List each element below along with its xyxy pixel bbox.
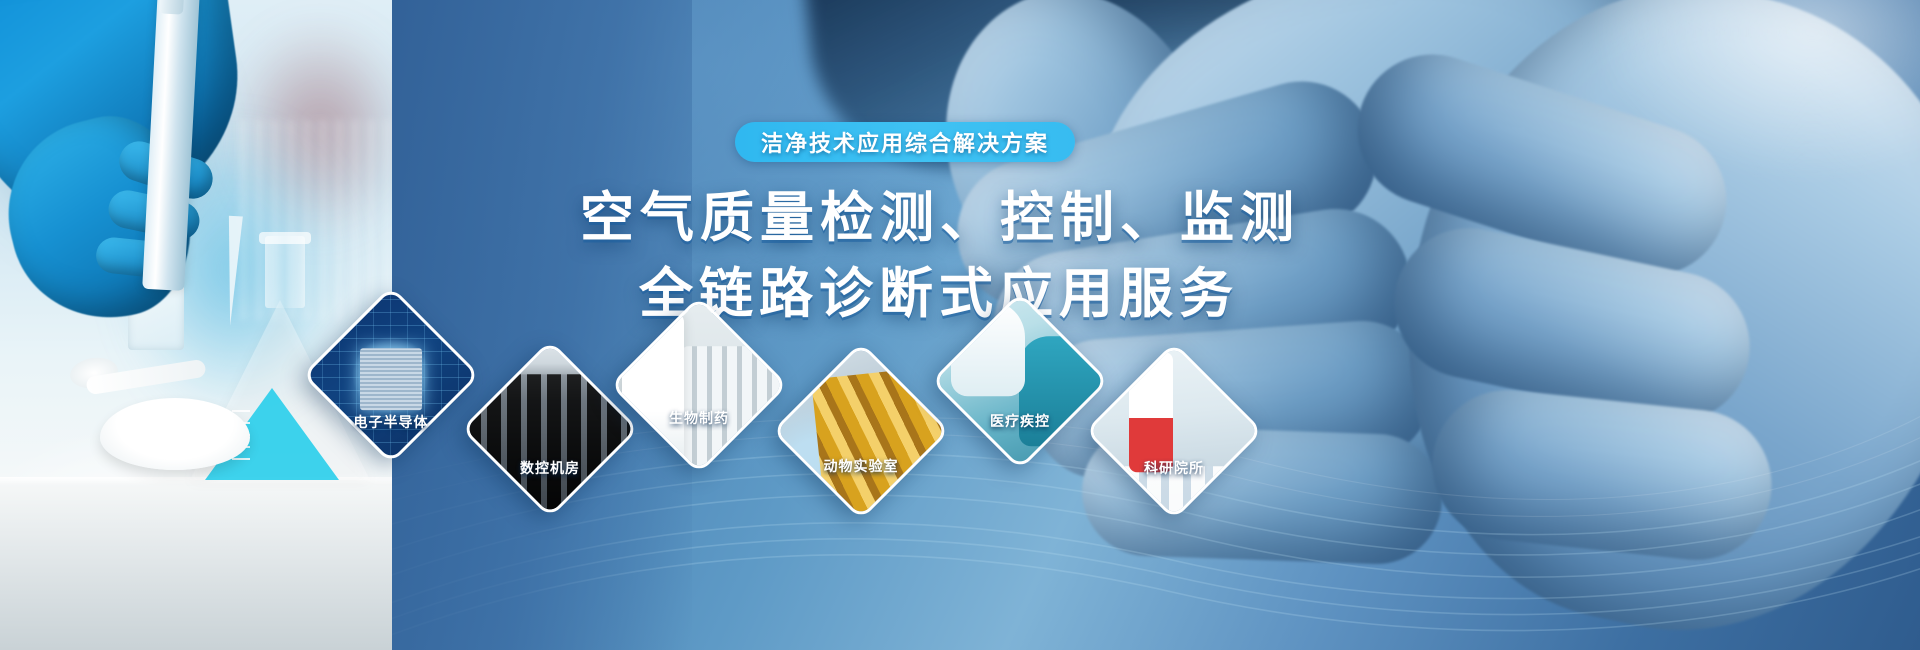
industry-card-label-research: 科研院所 [1084,458,1264,478]
industry-card-medical[interactable] [931,292,1109,470]
biopharmaceutical-icon [610,296,788,474]
server-room-icon [461,340,639,518]
industry-card-datacenter[interactable] [461,340,639,518]
animal-lab-icon [772,342,950,520]
industry-card-label-medical: 医疗疾控 [930,411,1110,431]
industry-card-electronics[interactable] [302,286,480,464]
research-institute-icon [1085,342,1263,520]
industry-card-biopharma[interactable] [610,296,788,474]
industry-card-label-animal-lab: 动物实验室 [771,456,951,476]
industry-card-label-datacenter: 数控机房 [460,458,640,478]
industry-card-label-electronics: 电子半导体 [301,412,481,432]
medical-cdc-icon [931,292,1109,470]
industry-card-research[interactable] [1085,342,1263,520]
semiconductor-chip-icon [302,286,480,464]
industry-card-animal-lab[interactable] [772,342,950,520]
hero-banner: 洁净技术应用综合解决方案 空气质量检测、控制、监测 全链路诊断式应用服务 电子半… [0,0,1920,650]
industry-card-label-biopharma: 生物制药 [609,408,789,428]
industry-card-row: 电子半导体 数控机房 生物制药 动物实验室 医疗疾控 科研院所 [0,0,1920,650]
